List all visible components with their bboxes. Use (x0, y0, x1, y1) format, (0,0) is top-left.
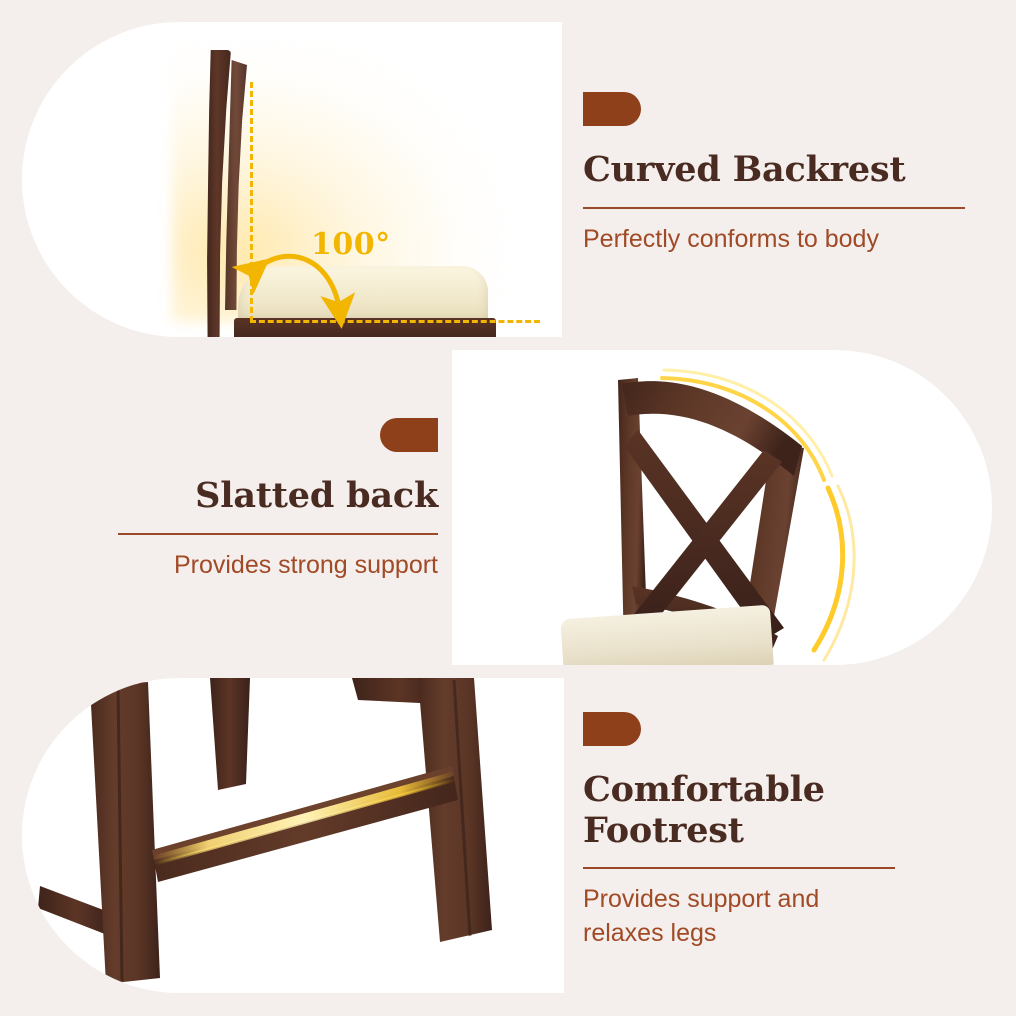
feature-title-line-1: Comfortable (583, 770, 895, 811)
divider-rule (583, 867, 895, 869)
accent-tag-badge-icon (583, 712, 641, 746)
angle-measurement-label: 100° (311, 227, 391, 262)
feature-title: Comfortable Footrest (583, 770, 895, 851)
chair-legs-footrest-illustration (22, 678, 564, 993)
photo-panel-footrest (22, 678, 564, 993)
chair-back-closeup-illustration (452, 350, 992, 665)
feature-subtitle: Perfectly conforms to body (583, 223, 965, 257)
accent-tag-badge-icon (583, 92, 641, 126)
feature-subtitle-line-1: Provides support and (583, 883, 895, 917)
chair-side-profile-illustration: 100° (22, 22, 562, 337)
infographic-canvas: 100° (0, 0, 1016, 1016)
feature-subtitle: Provides support and relaxes legs (583, 883, 895, 950)
angle-arc-arrow-icon (212, 202, 402, 337)
feature-title-line-2: Footrest (583, 811, 895, 852)
feature-title: Slatted back (118, 476, 438, 517)
photo-panel-curved-backrest: 100° (22, 22, 562, 337)
divider-rule (583, 207, 965, 209)
feature-text-slatted-back: Slatted back Provides strong support (118, 418, 438, 582)
feature-subtitle-line-2: relaxes legs (583, 917, 895, 951)
divider-rule (118, 533, 438, 535)
feature-text-curved-backrest: Curved Backrest Perfectly conforms to bo… (583, 92, 965, 256)
photo-panel-slatted-back (452, 350, 992, 665)
accent-tag-badge-icon (380, 418, 438, 452)
feature-title: Curved Backrest (583, 150, 965, 191)
feature-text-comfortable-footrest: Comfortable Footrest Provides support an… (583, 712, 895, 950)
feature-subtitle: Provides strong support (118, 549, 438, 583)
